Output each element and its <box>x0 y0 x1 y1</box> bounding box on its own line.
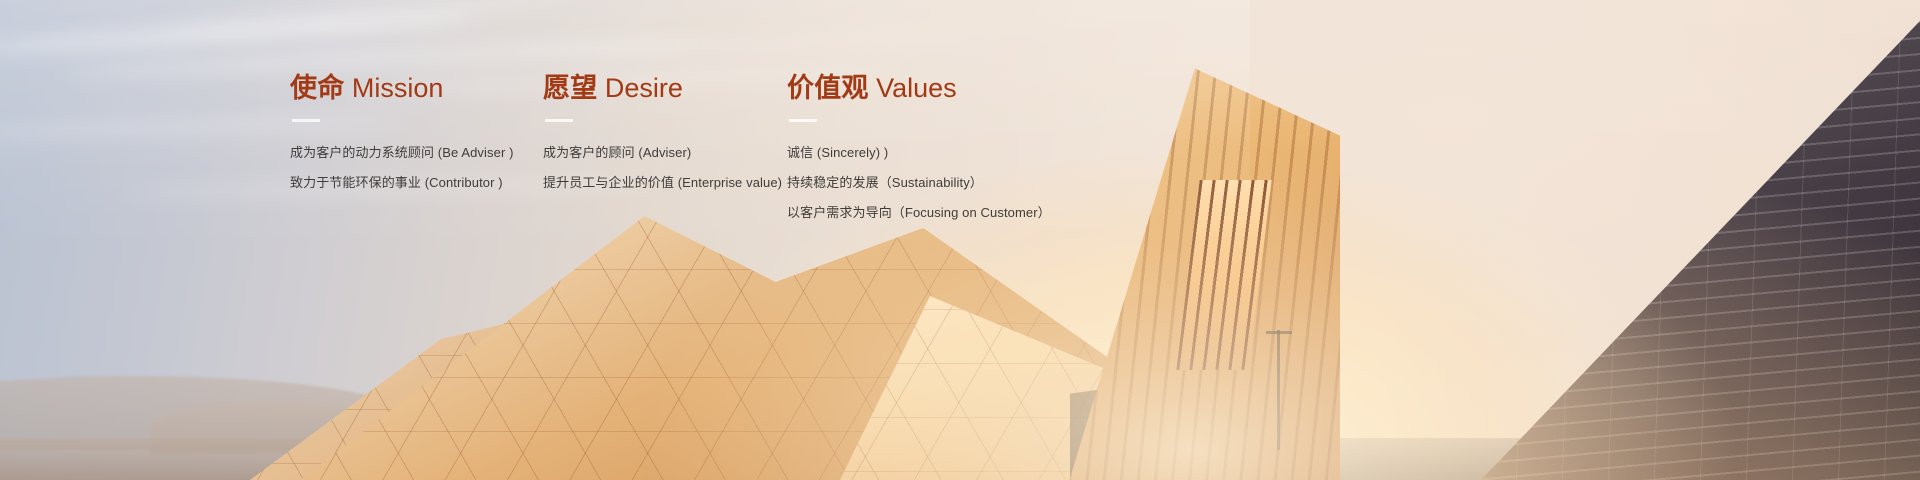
column-values-divider <box>789 119 817 122</box>
column-desire: 愿望 Desire 成为客户的顾问 (Adviser) 提升员工与企业的价值 (… <box>543 74 782 198</box>
list-item: 提升员工与企业的价值 (Enterprise value) <box>543 168 782 198</box>
column-desire-heading-en: Desire <box>597 73 683 103</box>
list-item: 以客户需求为导向（Focusing on Customer） <box>787 198 1051 228</box>
list-item: 诚信 (Sincerely) ) <box>787 138 1051 168</box>
column-mission: 使命 Mission 成为客户的动力系统顾问 (Be Adviser ) 致力于… <box>290 74 514 198</box>
list-item: 成为客户的动力系统顾问 (Be Adviser ) <box>290 138 514 168</box>
list-item: 致力于节能环保的事业 (Contributor ) <box>290 168 514 198</box>
list-item: 持续稳定的发展（Sustainability） <box>787 168 1051 198</box>
column-values-heading: 价值观 Values <box>787 74 1051 104</box>
column-mission-divider <box>292 119 320 122</box>
column-values: 价值观 Values 诚信 (Sincerely) ) 持续稳定的发展（Sust… <box>787 74 1051 228</box>
column-desire-divider <box>545 119 573 122</box>
column-mission-heading: 使命 Mission <box>290 74 514 104</box>
column-desire-heading-cn: 愿望 <box>543 73 597 103</box>
column-values-heading-en: Values <box>869 73 957 103</box>
column-values-list: 诚信 (Sincerely) ) 持续稳定的发展（Sustainability）… <box>787 138 1051 228</box>
column-mission-list: 成为客户的动力系统顾问 (Be Adviser ) 致力于节能环保的事业 (Co… <box>290 138 514 198</box>
column-values-heading-cn: 价值观 <box>787 73 869 103</box>
company-philosophy-banner: 使命 Mission 成为客户的动力系统顾问 (Be Adviser ) 致力于… <box>0 0 1920 480</box>
column-desire-heading: 愿望 Desire <box>543 74 782 104</box>
banner-content: 使命 Mission 成为客户的动力系统顾问 (Be Adviser ) 致力于… <box>0 0 1920 480</box>
column-mission-heading-cn: 使命 <box>290 73 344 103</box>
column-mission-heading-en: Mission <box>344 73 443 103</box>
column-desire-list: 成为客户的顾问 (Adviser) 提升员工与企业的价值 (Enterprise… <box>543 138 782 198</box>
list-item: 成为客户的顾问 (Adviser) <box>543 138 782 168</box>
